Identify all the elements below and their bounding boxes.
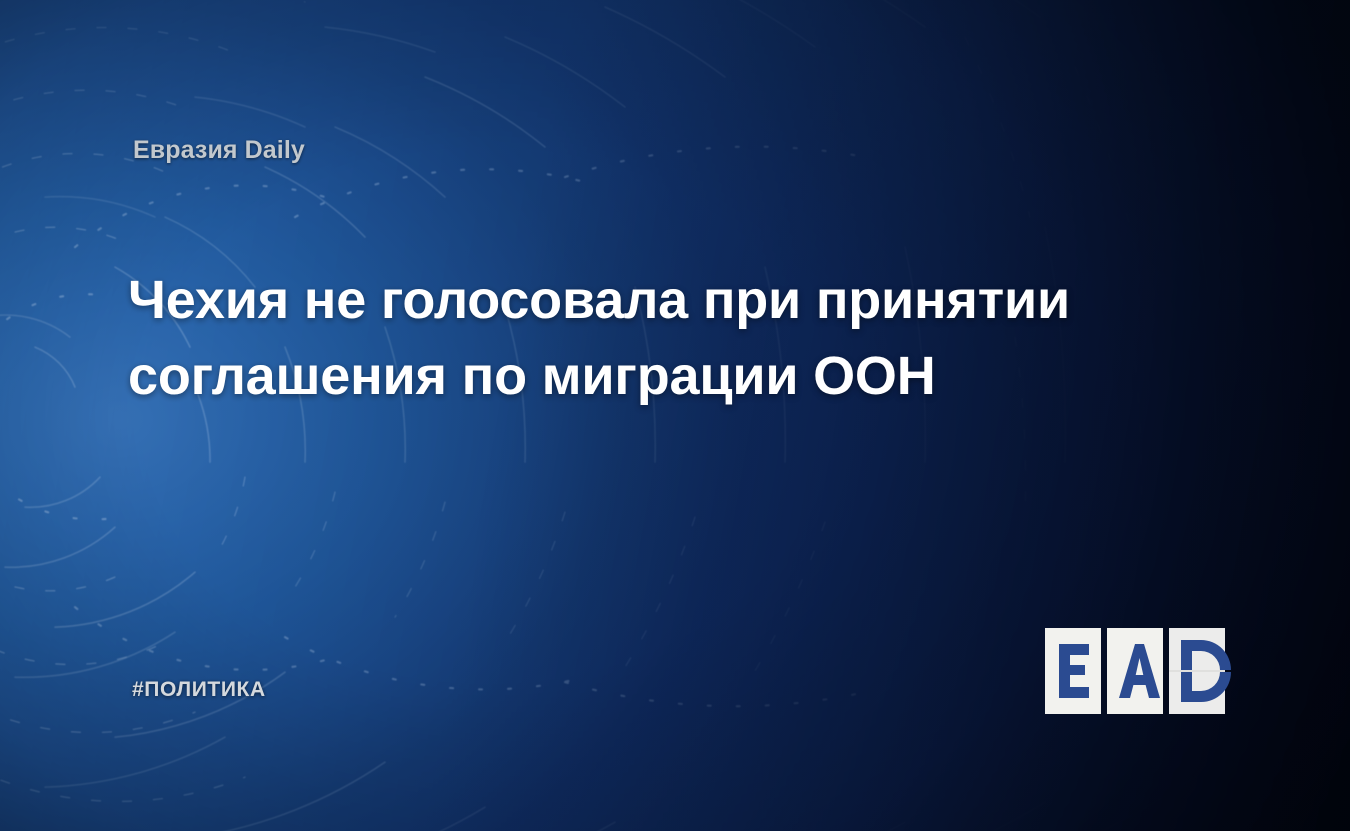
brand-label: Евразия Daily <box>133 136 305 165</box>
headline-line-2: соглашения по миграции ООН <box>128 338 1088 414</box>
logo-letter-e <box>1059 644 1089 698</box>
headline: Чехия не голосовала при принятии соглаше… <box>128 262 1088 414</box>
category-tag[interactable]: #ПОЛИТИКА <box>132 678 266 702</box>
eadaily-logo[interactable] <box>1043 626 1233 716</box>
news-card: Евразия Daily Чехия не голосовала при пр… <box>0 0 1350 831</box>
headline-line-1: Чехия не голосовала при принятии <box>128 262 1088 338</box>
